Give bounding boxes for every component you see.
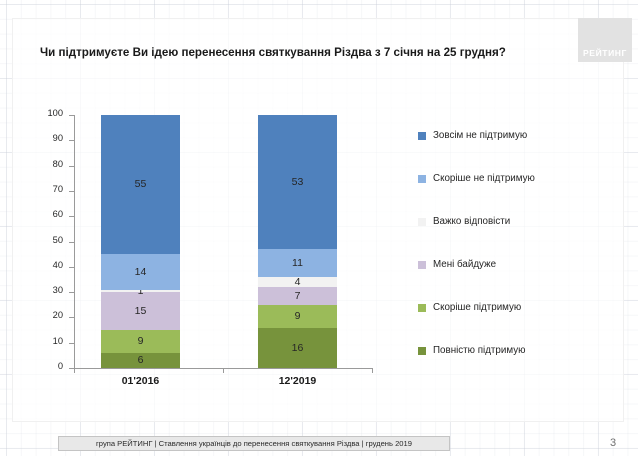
- y-axis-tick-label: 50: [53, 235, 63, 245]
- y-axis-tick-label: 40: [53, 260, 63, 270]
- bar-segment[interactable]: 14: [101, 254, 180, 289]
- legend-item[interactable]: Зовсім не підтримую: [418, 130, 535, 141]
- y-axis-tick-label: 70: [53, 184, 63, 194]
- bar-segment-value: 6: [138, 355, 144, 366]
- legend-item[interactable]: Повністю підтримую: [418, 345, 535, 356]
- y-axis-tick-label: 100: [47, 108, 63, 118]
- bar-segment-value: 53: [292, 177, 304, 188]
- legend-item-label: Скоріше не підтримую: [433, 173, 535, 184]
- bar-segment[interactable]: 53: [258, 115, 337, 249]
- x-axis-tick-mark: [372, 368, 373, 373]
- y-axis-tick-label: 90: [53, 133, 63, 143]
- x-axis-tick-mark: [223, 368, 224, 373]
- x-axis-tick-mark: [74, 368, 75, 373]
- bar-segment[interactable]: 9: [258, 305, 337, 328]
- bar-segment-value: 4: [295, 277, 301, 288]
- bar-segment[interactable]: 1: [101, 290, 180, 293]
- plot-area: 691511455169741153: [74, 115, 372, 368]
- bar-segment-value: 14: [135, 267, 147, 278]
- legend-color-swatch: [418, 261, 426, 269]
- stacked-bar[interactable]: 169741153: [258, 115, 337, 368]
- bar-segment-value: 9: [138, 336, 144, 347]
- legend-color-swatch: [418, 132, 426, 140]
- page-number: 3: [610, 437, 616, 449]
- stacked-bar[interactable]: 691511455: [101, 115, 180, 368]
- bar-segment[interactable]: 11: [258, 249, 337, 277]
- legend-color-swatch: [418, 218, 426, 226]
- bar-segment[interactable]: 16: [258, 328, 337, 368]
- legend-item-label: Зовсім не підтримую: [433, 130, 527, 141]
- y-axis-tick-label: 30: [53, 285, 63, 295]
- legend-color-swatch: [418, 347, 426, 355]
- legend-item-label: Мені байдуже: [433, 259, 496, 270]
- logo-label: РЕЙТИНГ: [583, 48, 627, 62]
- bar-segment-value: 7: [295, 291, 301, 302]
- bar-segment-value: 55: [135, 179, 147, 190]
- rating-logo: РЕЙТИНГ: [578, 18, 632, 62]
- legend-item-label: Повністю підтримую: [433, 345, 525, 356]
- bar-segment[interactable]: 9: [101, 330, 180, 353]
- legend-item-label: Скоріше підтримую: [433, 302, 521, 313]
- legend-item-label: Важко відповісти: [433, 216, 510, 227]
- page-title: Чи підтримуєте Ви ідею перенесення святк…: [40, 45, 570, 60]
- bar-segment-value: 16: [292, 343, 304, 354]
- y-axis-tick-label: 60: [53, 209, 63, 219]
- bar-segment-value: 15: [135, 306, 147, 317]
- footer-bar: група РЕЙТИНГ | Ставлення українців до п…: [58, 436, 450, 451]
- slide-root: РЕЙТИНГ Чи підтримуєте Ви ідею перенесен…: [0, 0, 638, 456]
- chart-legend: Зовсім не підтримуюСкоріше не підтримуюВ…: [418, 130, 535, 388]
- bar-segment[interactable]: 7: [258, 287, 337, 305]
- y-axis-tick-label: 80: [53, 159, 63, 169]
- bar-segment-value: 11: [292, 258, 303, 269]
- bar-segment[interactable]: 55: [101, 115, 180, 254]
- bar-segment-value: 9: [295, 311, 301, 322]
- y-axis-tick-label: 20: [53, 310, 63, 320]
- legend-item[interactable]: Мені байдуже: [418, 259, 535, 270]
- bar-segment[interactable]: 4: [258, 277, 337, 287]
- footer-text: група РЕЙТИНГ | Ставлення українців до п…: [96, 439, 412, 448]
- y-axis-tick-label: 0: [58, 361, 63, 371]
- x-axis-category-label: 01'2016: [81, 375, 201, 387]
- y-axis-tick-label: 10: [53, 336, 63, 346]
- legend-color-swatch: [418, 175, 426, 183]
- legend-item[interactable]: Важко відповісти: [418, 216, 535, 227]
- legend-item[interactable]: Скоріше не підтримую: [418, 173, 535, 184]
- legend-color-swatch: [418, 304, 426, 312]
- x-axis-category-label: 12'2019: [238, 375, 358, 387]
- legend-item[interactable]: Скоріше підтримую: [418, 302, 535, 313]
- bar-segment[interactable]: 15: [101, 292, 180, 330]
- bar-segment[interactable]: 6: [101, 353, 180, 368]
